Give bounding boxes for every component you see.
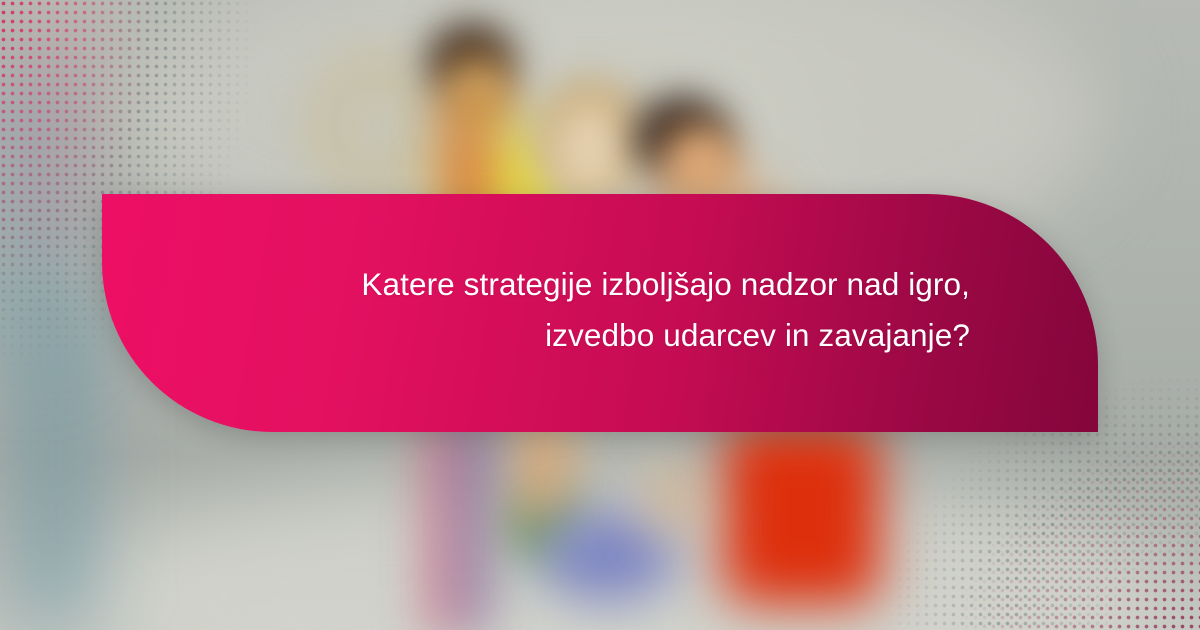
question-banner: Katere strategije izboljšajo nadzor nad … — [102, 194, 1098, 432]
photo-blue-ball — [540, 512, 676, 600]
photo-tan-object — [652, 468, 692, 530]
photo-pink-ribbon-upper-left — [36, 20, 70, 250]
social-card: Katere strategije izboljšajo nadzor nad … — [0, 0, 1200, 630]
photo-child-two-face — [552, 104, 630, 194]
question-text: Katere strategije izboljšajo nadzor nad … — [361, 259, 970, 361]
photo-red-skirt — [724, 424, 880, 604]
photo-yellow-hoop — [318, 62, 436, 190]
photo-pink-ribbon — [432, 408, 458, 630]
photo-purple-ribbon — [462, 416, 484, 630]
